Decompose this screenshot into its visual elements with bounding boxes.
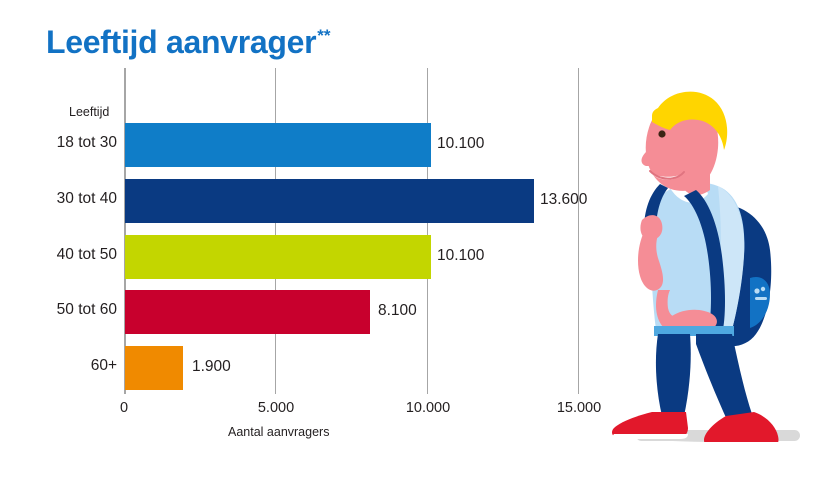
category-label-text: 60+ bbox=[7, 357, 117, 375]
walking-student-illustration bbox=[600, 78, 838, 458]
infographic-page: Leeftijd aanvrager** Leeftijd 18 tot 30 … bbox=[0, 0, 838, 489]
gridline-15000 bbox=[578, 68, 579, 394]
backpack-stud-icon bbox=[761, 287, 765, 291]
front-leg-icon bbox=[696, 334, 752, 422]
category-label-text: 18 tot 30 bbox=[7, 134, 117, 152]
back-shoe-sole-icon bbox=[613, 434, 688, 439]
eye-icon bbox=[658, 130, 665, 137]
gridline-10000 bbox=[427, 68, 428, 394]
bar-value-2: 10.100 bbox=[437, 247, 484, 265]
bar-18-tot-30[interactable] bbox=[125, 123, 431, 167]
bar-value-3: 8.100 bbox=[378, 302, 417, 320]
bar-value-1: 13.600 bbox=[540, 191, 587, 209]
x-tick-0: 0 bbox=[120, 400, 128, 416]
backpack-pocket-icon bbox=[750, 277, 770, 328]
bar-60-plus[interactable] bbox=[125, 346, 183, 390]
bar-30-tot-40[interactable] bbox=[125, 179, 534, 223]
y-axis-title: Leeftijd bbox=[69, 105, 109, 119]
category-label-text: 30 tot 40 bbox=[7, 190, 117, 208]
x-tick-10000: 10.000 bbox=[406, 400, 450, 416]
category-label-text: 50 tot 60 bbox=[7, 301, 117, 319]
bar-40-tot-50[interactable] bbox=[125, 235, 431, 279]
nose-icon bbox=[642, 150, 653, 166]
category-label-text: 40 tot 50 bbox=[7, 246, 117, 264]
gridline-5000 bbox=[275, 68, 276, 394]
hand-on-strap-icon bbox=[640, 215, 662, 240]
backpack-stud-icon bbox=[754, 288, 759, 293]
x-tick-15000: 15.000 bbox=[557, 400, 601, 416]
x-axis-title: Aantal aanvragers bbox=[228, 425, 329, 439]
bar-50-tot-60[interactable] bbox=[125, 290, 370, 334]
bar-chart: Leeftijd 18 tot 30 30 tot 40 40 tot 50 5… bbox=[0, 0, 620, 460]
x-tick-5000: 5.000 bbox=[258, 400, 294, 416]
bar-value-0: 10.100 bbox=[437, 135, 484, 153]
backpack-zip-icon bbox=[755, 297, 767, 300]
front-shoe-sole-icon bbox=[704, 442, 779, 449]
bar-value-4: 1.900 bbox=[192, 358, 231, 376]
back-leg-icon bbox=[656, 334, 691, 416]
